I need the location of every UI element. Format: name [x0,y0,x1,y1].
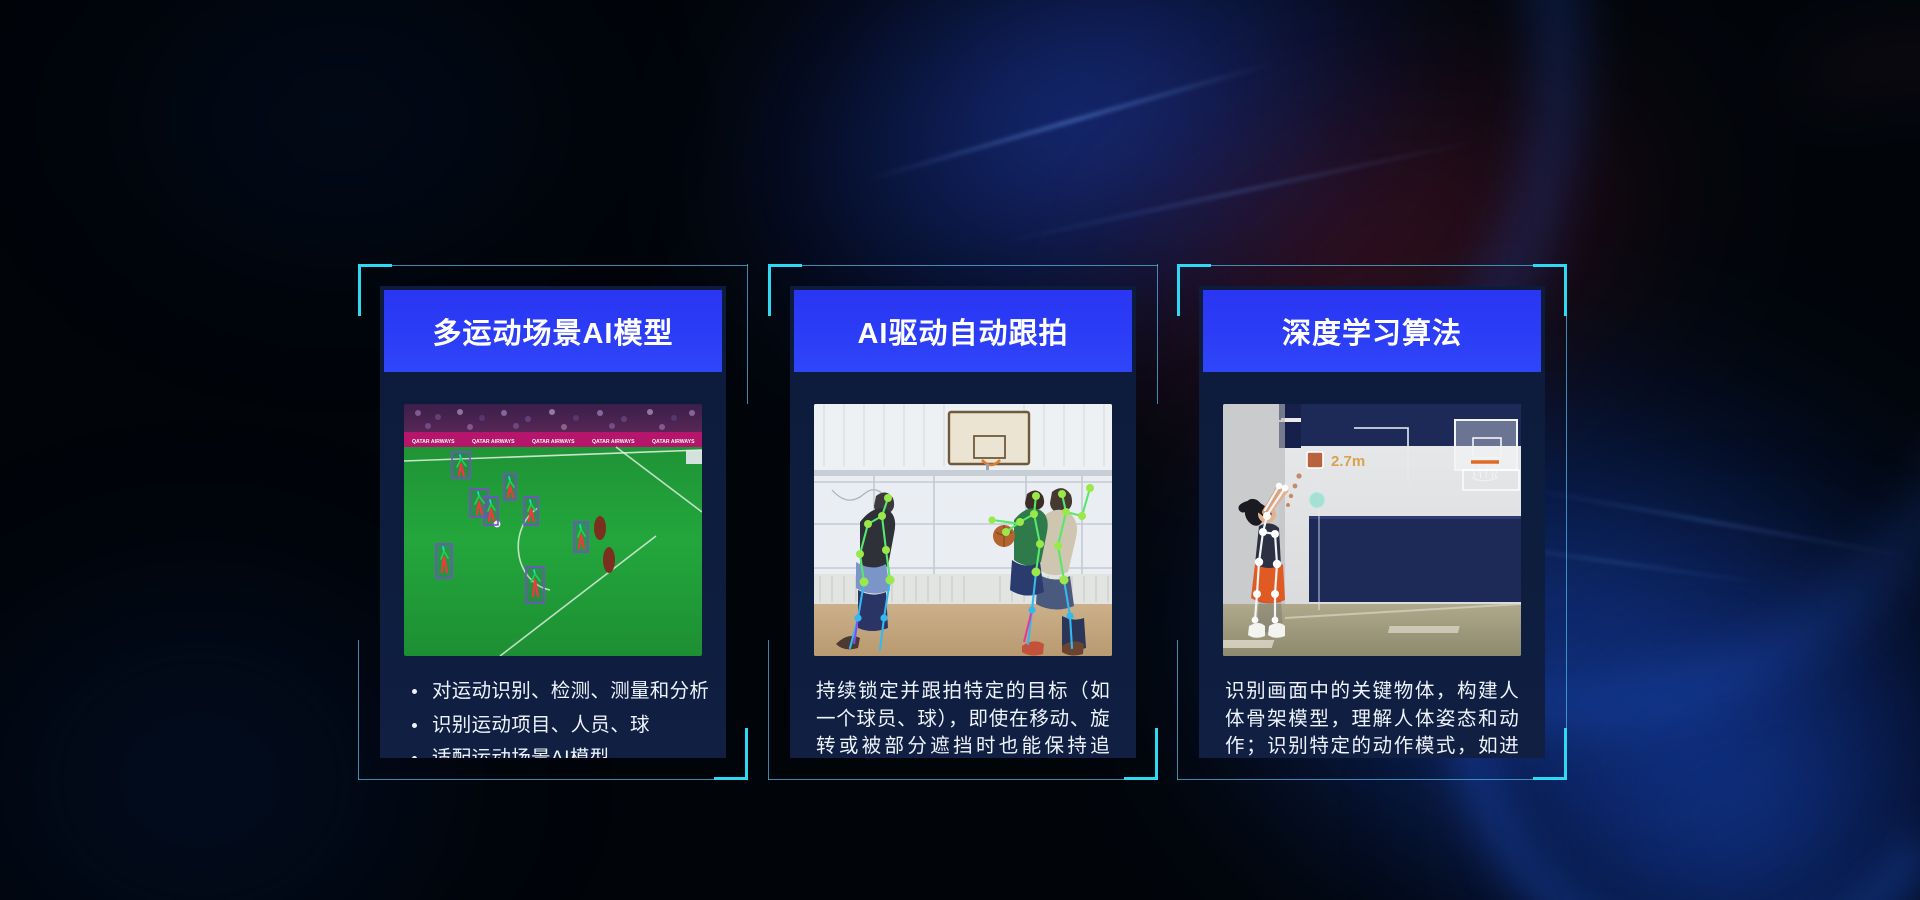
card-body: 对运动识别、检测、测量和分析 识别运动项目、人员、球 适配运动场景AI模型 [380,656,726,758]
feature-card-multi-sport-ai-model[interactable]: 多运动场景AI模型 [358,264,748,780]
svg-text:QATAR AIRWAYS: QATAR AIRWAYS [532,439,575,445]
feature-card-list: 多运动场景AI模型 [0,0,1920,900]
card-title: 深度学习算法 [1203,290,1541,372]
feature-card-ai-auto-tracking-shot[interactable]: AI驱动自动跟拍 [768,264,1158,780]
poster-stage: 多运动场景AI模型 [0,0,1920,900]
svg-text:QATAR AIRWAYS: QATAR AIRWAYS [412,439,455,445]
list-item: 识别运动项目、人员、球 [406,712,700,740]
feature-card-deep-learning-algorithm[interactable]: 深度学习算法 [1177,264,1567,780]
card-media-shot-trajectory: 2.7m [1223,404,1521,656]
list-item: 对运动识别、检测、测量和分析 [406,678,700,706]
shot-tracking-illustration: 2.7m [1223,404,1521,656]
card-title: 多运动场景AI模型 [384,290,722,372]
card-media-soccer-detection: QATAR AIRWAYS QATAR AIRWAYS QATAR AIRWAY… [404,404,702,656]
card-body: 持续锁定并跟拍特定的目标（如一个球员、球），即使在移动、旋转或被部分遮挡时也能保… [790,656,1136,758]
card-surface: 深度学习算法 [1199,286,1545,758]
card-description: 持续锁定并跟拍特定的目标（如一个球员、球），即使在移动、旋转或被部分遮挡时也能保… [816,678,1110,758]
soccer-pitch-illustration: QATAR AIRWAYS QATAR AIRWAYS QATAR AIRWAY… [404,404,702,656]
card-title: AI驱动自动跟拍 [794,290,1132,372]
card-body: 识别画面中的关键物体，构建人体骨架模型，理解人体姿态和动作；识别特定的动作模式，… [1199,656,1545,758]
distance-label: 2.7m [1331,453,1365,470]
svg-text:QATAR AIRWAYS: QATAR AIRWAYS [592,439,635,445]
card-surface: AI驱动自动跟拍 [790,286,1136,758]
basketball-gym-illustration [814,404,1112,656]
card-surface: 多运动场景AI模型 [380,286,726,758]
list-item: 适配运动场景AI模型 [406,745,700,758]
card-description: 识别画面中的关键物体，构建人体骨架模型，理解人体姿态和动作；识别特定的动作模式，… [1225,678,1519,758]
svg-text:QATAR AIRWAYS: QATAR AIRWAYS [472,439,515,445]
svg-text:QATAR AIRWAYS: QATAR AIRWAYS [652,439,695,445]
card-media-basketball-pose [814,404,1112,656]
feature-bullet-list: 对运动识别、检测、测量和分析 识别运动项目、人员、球 适配运动场景AI模型 [406,678,700,758]
